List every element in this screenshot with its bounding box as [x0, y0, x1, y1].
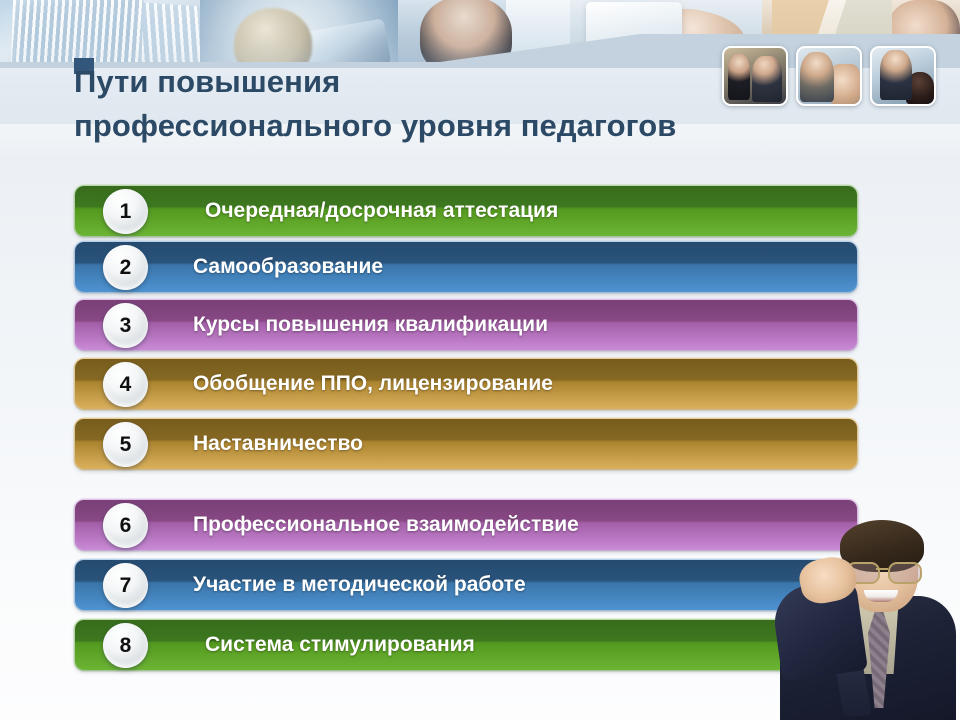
list-item-8-label: Система стимулирования	[205, 620, 475, 670]
list-item-7[interactable]: 7 Участие в методической работе	[75, 560, 857, 610]
list-item-6-label: Профессиональное взаимодействие	[193, 500, 579, 550]
list-item-8-number: 8	[120, 635, 132, 656]
list-item-1-number: 1	[120, 201, 132, 222]
list-item-6-number: 6	[120, 515, 132, 536]
list-item-4[interactable]: 4 Обобщение ППО, лицензирование	[75, 359, 857, 409]
list-item-7-label: Участие в методической работе	[193, 560, 526, 610]
thumbnail-businessman-presenting	[870, 46, 936, 106]
list-item-1-label: Очередная/досрочная аттестация	[205, 186, 558, 236]
list-item-3[interactable]: 3 Курсы повышения квалификации	[75, 300, 857, 350]
list-item-2-number-badge: 2	[103, 245, 148, 290]
businessman-with-glasses-photo	[772, 500, 960, 720]
list-item-6[interactable]: 6 Профессиональное взаимодействие	[75, 500, 857, 550]
list-item-7-number: 7	[120, 575, 132, 596]
page-title: Пути повышения профессионального уровня …	[74, 60, 724, 148]
list-item-5-label: Наставничество	[193, 419, 363, 469]
list-item-4-number-badge: 4	[103, 362, 148, 407]
list-item-5-number-badge: 5	[103, 422, 148, 467]
list-item-2[interactable]: 2 Самообразование	[75, 242, 857, 292]
list-item-2-label: Самообразование	[193, 242, 383, 292]
list-item-4-label: Обобщение ППО, лицензирование	[193, 359, 553, 409]
list-item-8[interactable]: 8 Система стимулирования	[75, 620, 857, 670]
list-item-1[interactable]: 1 Очередная/досрочная аттестация	[75, 186, 857, 236]
list-item-3-number: 3	[120, 315, 132, 336]
list-item-3-number-badge: 3	[103, 303, 148, 348]
banner-thumbnail-group	[722, 46, 936, 106]
list-item-7-number-badge: 7	[103, 563, 148, 608]
list-item-4-number: 4	[120, 374, 132, 395]
page-title-line-2: профессионального уровня педагогов	[74, 104, 724, 148]
eyeglasses-bridge	[876, 568, 888, 570]
list-item-6-number-badge: 6	[103, 503, 148, 548]
list-item-8-number-badge: 8	[103, 623, 148, 668]
list-item-5[interactable]: 5 Наставничество	[75, 419, 857, 469]
list-item-2-number: 2	[120, 257, 132, 278]
list-item-1-number-badge: 1	[103, 189, 148, 234]
list-item-3-label: Курсы повышения квалификации	[193, 300, 548, 350]
thumbnail-meeting-two-people	[722, 46, 788, 106]
page-title-line-1: Пути повышения	[74, 60, 724, 104]
list-item-5-number: 5	[120, 434, 132, 455]
slide-canvas: Пути повышения профессионального уровня …	[0, 0, 960, 720]
thumbnail-handshake-discussion	[796, 46, 862, 106]
eyeglasses-right-lens	[888, 562, 922, 584]
